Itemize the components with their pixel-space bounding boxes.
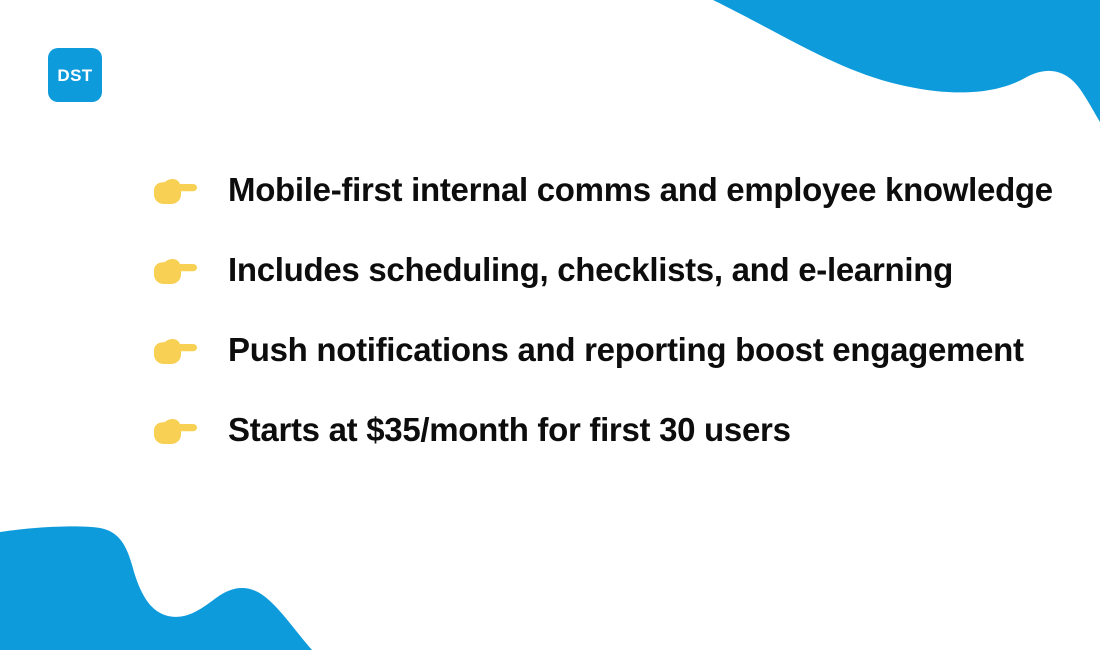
logo-text: DST <box>57 67 92 84</box>
pointing-right-hand-icon <box>152 168 228 206</box>
pointing-right-hand-icon <box>152 408 228 446</box>
slide-canvas: DST Mobile-first internal comms and empl… <box>0 0 1100 650</box>
list-item: Starts at $35/month for first 30 users <box>152 408 1100 488</box>
pointing-right-hand-icon <box>152 248 228 286</box>
bullet-text: Push notifications and reporting boost e… <box>228 328 1024 372</box>
list-item: Includes scheduling, checklists, and e-l… <box>152 248 1100 328</box>
bullet-text: Mobile-first internal comms and employee… <box>228 168 1053 212</box>
list-item: Push notifications and reporting boost e… <box>152 328 1100 408</box>
bullet-text: Starts at $35/month for first 30 users <box>228 408 791 452</box>
list-item: Mobile-first internal comms and employee… <box>152 168 1100 248</box>
bullet-text: Includes scheduling, checklists, and e-l… <box>228 248 953 292</box>
blue-wave-bottom-left <box>0 510 1100 650</box>
logo-badge[interactable]: DST <box>48 48 102 102</box>
pointing-right-hand-icon <box>152 328 228 366</box>
blue-wave-top-right <box>0 0 1100 140</box>
bullet-list: Mobile-first internal comms and employee… <box>152 168 1100 488</box>
